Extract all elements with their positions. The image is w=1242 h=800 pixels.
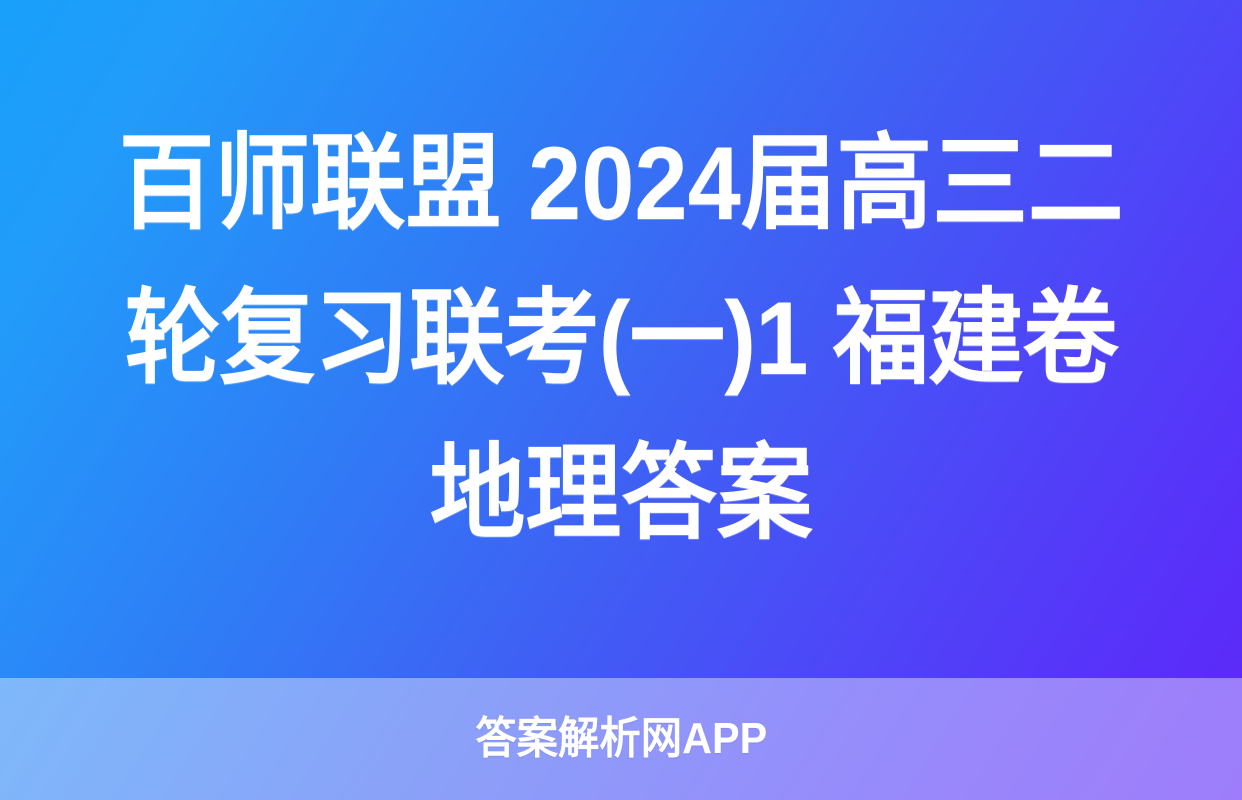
headline-line-2: 轮复习联考(一)1 福建卷 <box>119 262 1124 417</box>
footer-watermark-band: 答案解析网APP <box>0 678 1242 800</box>
watermark-text: 答案解析网APP <box>475 717 767 761</box>
exam-answer-banner: 百师联盟 2024届高三二 轮复习联考(一)1 福建卷 地理答案 答案解析网AP… <box>0 0 1242 800</box>
headline-line-1: 百师联盟 2024届高三二 <box>119 107 1124 262</box>
headline-area: 百师联盟 2024届高三二 轮复习联考(一)1 福建卷 地理答案 <box>0 0 1242 678</box>
page-title: 百师联盟 2024届高三二 轮复习联考(一)1 福建卷 地理答案 <box>119 107 1124 572</box>
headline-line-3: 地理答案 <box>119 417 1124 572</box>
